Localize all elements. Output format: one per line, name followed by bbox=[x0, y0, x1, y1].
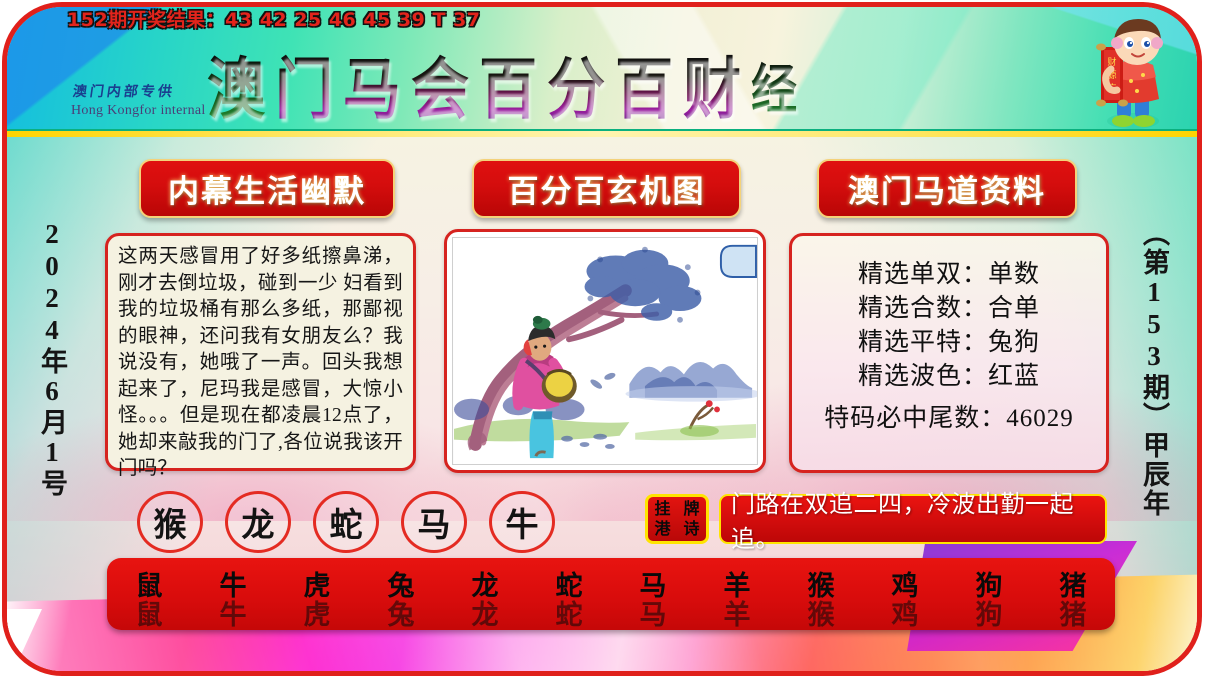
picture-frame: 祥6hu.com 玄机图 bbox=[452, 237, 758, 465]
section-banner-data[interactable]: 澳门马道资料 bbox=[817, 159, 1077, 218]
phrase-banner: 门路在双追二四，冷波出勤一起追。 bbox=[719, 494, 1107, 544]
title-char-1: 澳 bbox=[207, 55, 265, 124]
special-tail-label: 特码必中尾数： bbox=[824, 405, 1006, 432]
issue-date-vertical: 2024年6月1号 bbox=[29, 219, 75, 498]
zodiac-bar-cell[interactable]: 兔 兔 bbox=[359, 558, 443, 630]
phrase-badge-char: 挂 bbox=[654, 499, 670, 519]
zodiac-pick[interactable]: 牛 bbox=[489, 491, 555, 553]
data-row: 精选平特：兔狗 bbox=[792, 326, 1106, 360]
zodiac-bar-cell[interactable]: 鸡 鸡 bbox=[863, 558, 947, 630]
phrase-badge-char: 诗 bbox=[683, 519, 699, 539]
zodiac-bar-label: 虎 bbox=[275, 572, 359, 602]
data-row-value: 合单 bbox=[988, 295, 1040, 322]
zodiac-bar-label: 兔 bbox=[359, 572, 443, 602]
data-panel-rows: 精选单双：单数 精选合数：合单 精选平特：兔狗 精选波色：红蓝 bbox=[792, 258, 1106, 394]
data-row-value: 单数 bbox=[988, 261, 1040, 288]
title-char-3: 马 bbox=[343, 55, 401, 124]
zodiac-bar-cell[interactable]: 猴 猴 bbox=[779, 558, 863, 630]
zodiac-bar-label-echo: 虎 bbox=[275, 602, 359, 630]
zodiac-bar-cell[interactable]: 鼠 鼠 bbox=[107, 558, 191, 630]
zodiac-bar-label: 鸡 bbox=[863, 572, 947, 602]
data-row-label: 精选波色： bbox=[858, 363, 988, 390]
picture-panel: 祥6hu.com 玄机图 bbox=[444, 229, 766, 473]
zodiac-picks-row: 猴 龙 蛇 马 牛 bbox=[137, 491, 555, 553]
zodiac-bar-label-echo: 兔 bbox=[359, 602, 443, 630]
data-row-value: 红蓝 bbox=[988, 363, 1040, 390]
title-char-4: 会 bbox=[411, 55, 469, 124]
ink-painting-illustration bbox=[453, 238, 757, 464]
special-tail-row: 特码必中尾数：46029 bbox=[792, 398, 1106, 434]
zodiac-bar-label-echo: 狗 bbox=[947, 602, 1031, 630]
phrase-badge[interactable]: 挂 牌 港 诗 bbox=[645, 494, 709, 544]
section-banner-humor[interactable]: 内幕生活幽默 bbox=[139, 159, 395, 218]
humor-panel: 这两天感冒用了好多纸擦鼻涕，刚才去倒垃圾，碰到一少 妇看到我的垃圾桶有那么多纸，… bbox=[105, 233, 416, 471]
draw-result-text: 152期开奖结果：43 42 25 46 45 39 T 37 bbox=[67, 8, 481, 32]
humor-panel-text: 这两天感冒用了好多纸擦鼻涕，刚才去倒垃圾，碰到一少 妇看到我的垃圾桶有那么多纸，… bbox=[118, 244, 403, 483]
header-divider bbox=[7, 129, 1197, 137]
phrase-badge-char: 港 bbox=[654, 519, 670, 539]
zodiac-bar-label: 马 bbox=[611, 572, 695, 602]
issue-number-vertical: （第153期）甲辰年 bbox=[1131, 219, 1177, 518]
zodiac-bar-label: 狗 bbox=[947, 572, 1031, 602]
phrase-banner-text: 门路在双追二四，冷波出勤一起追。 bbox=[731, 484, 1105, 554]
zodiac-pick[interactable]: 龙 bbox=[225, 491, 291, 553]
zodiac-bar-label-echo: 鸡 bbox=[863, 602, 947, 630]
section-banner-picture[interactable]: 百分百玄机图 bbox=[472, 159, 741, 218]
zodiac-bar-cell[interactable]: 牛 牛 bbox=[191, 558, 275, 630]
zodiac-bar-label-echo: 猴 bbox=[779, 602, 863, 630]
phrase-badge-char: 牌 bbox=[683, 499, 699, 519]
zodiac-pick[interactable]: 马 bbox=[401, 491, 467, 553]
zodiac-bar-label-echo: 龙 bbox=[443, 602, 527, 630]
data-row-value: 兔狗 bbox=[988, 329, 1040, 356]
title-char-6: 分 bbox=[547, 55, 605, 124]
title-char-8: 财 bbox=[683, 55, 741, 124]
zodiac-bar-label: 蛇 bbox=[527, 572, 611, 602]
zodiac-bar-cell[interactable]: 猪 猪 bbox=[1031, 558, 1115, 630]
data-row-label: 精选平特： bbox=[858, 329, 988, 356]
data-row-label: 精选合数： bbox=[858, 295, 988, 322]
section-banner-humor-label: 内幕生活幽默 bbox=[168, 166, 366, 211]
data-panel: 精选单双：单数 精选合数：合单 精选平特：兔狗 精选波色：红蓝 特码必中尾数：4… bbox=[789, 233, 1109, 473]
title-char-7: 百 bbox=[615, 55, 673, 124]
zodiac-bar-cell[interactable]: 马 马 bbox=[611, 558, 695, 630]
data-row: 精选波色：红蓝 bbox=[792, 360, 1106, 394]
zodiac-bar-label-echo: 牛 bbox=[191, 602, 275, 630]
zodiac-bar-label: 猪 bbox=[1031, 572, 1115, 602]
zodiac-bar-label-echo: 马 bbox=[611, 602, 695, 630]
zodiac-bar-label: 牛 bbox=[191, 572, 275, 602]
zodiac-bar-cell[interactable]: 虎 虎 bbox=[275, 558, 359, 630]
zodiac-bar: 鼠 鼠 牛 牛 虎 虎 兔 兔 龙 龙 蛇 蛇 bbox=[107, 558, 1115, 630]
zodiac-bar-label: 鼠 bbox=[107, 572, 191, 602]
special-tail-value: 46029 bbox=[1006, 405, 1074, 432]
title-char-2: 门 bbox=[275, 55, 333, 124]
poster-frame: 澳门内部专供 Hong Kongfor internal 澳 门 马 会 百 分… bbox=[2, 2, 1202, 676]
zodiac-pick[interactable]: 猴 bbox=[137, 491, 203, 553]
data-row: 精选单双：单数 bbox=[792, 258, 1106, 292]
zodiac-bar-label: 龙 bbox=[443, 572, 527, 602]
section-banner-picture-label: 百分百玄机图 bbox=[508, 166, 706, 211]
site-title: 澳 门 马 会 百 分 百 财 经 bbox=[207, 51, 1087, 127]
zodiac-bar-label-echo: 蛇 bbox=[527, 602, 611, 630]
data-row: 精选合数：合单 bbox=[792, 292, 1106, 326]
title-char-5: 百 bbox=[479, 55, 537, 124]
zodiac-bar-cell[interactable]: 狗 狗 bbox=[947, 558, 1031, 630]
zodiac-pick[interactable]: 蛇 bbox=[313, 491, 379, 553]
brand-chinese-label: 澳门内部专供 bbox=[72, 81, 177, 101]
brand-english-label: Hong Kongfor internal bbox=[71, 103, 206, 119]
zodiac-bar-label-echo: 猪 bbox=[1031, 602, 1115, 630]
zodiac-bar-label-echo: 鼠 bbox=[107, 602, 191, 630]
title-char-9: 经 bbox=[751, 55, 797, 124]
zodiac-bar-label: 羊 bbox=[695, 572, 779, 602]
zodiac-bar-label-echo: 羊 bbox=[695, 602, 779, 630]
lottery-poster: 澳门内部专供 Hong Kongfor internal 澳 门 马 会 百 分… bbox=[0, 0, 1208, 682]
zodiac-bar-cell[interactable]: 羊 羊 bbox=[695, 558, 779, 630]
zodiac-bar-label: 猴 bbox=[779, 572, 863, 602]
boy-with-scroll-icon: 财 源 广 bbox=[1081, 17, 1179, 135]
zodiac-bar-cell[interactable]: 蛇 蛇 bbox=[527, 558, 611, 630]
data-row-label: 精选单双： bbox=[858, 261, 988, 288]
section-banner-data-label: 澳门马道资料 bbox=[848, 166, 1046, 211]
zodiac-bar-cell[interactable]: 龙 龙 bbox=[443, 558, 527, 630]
